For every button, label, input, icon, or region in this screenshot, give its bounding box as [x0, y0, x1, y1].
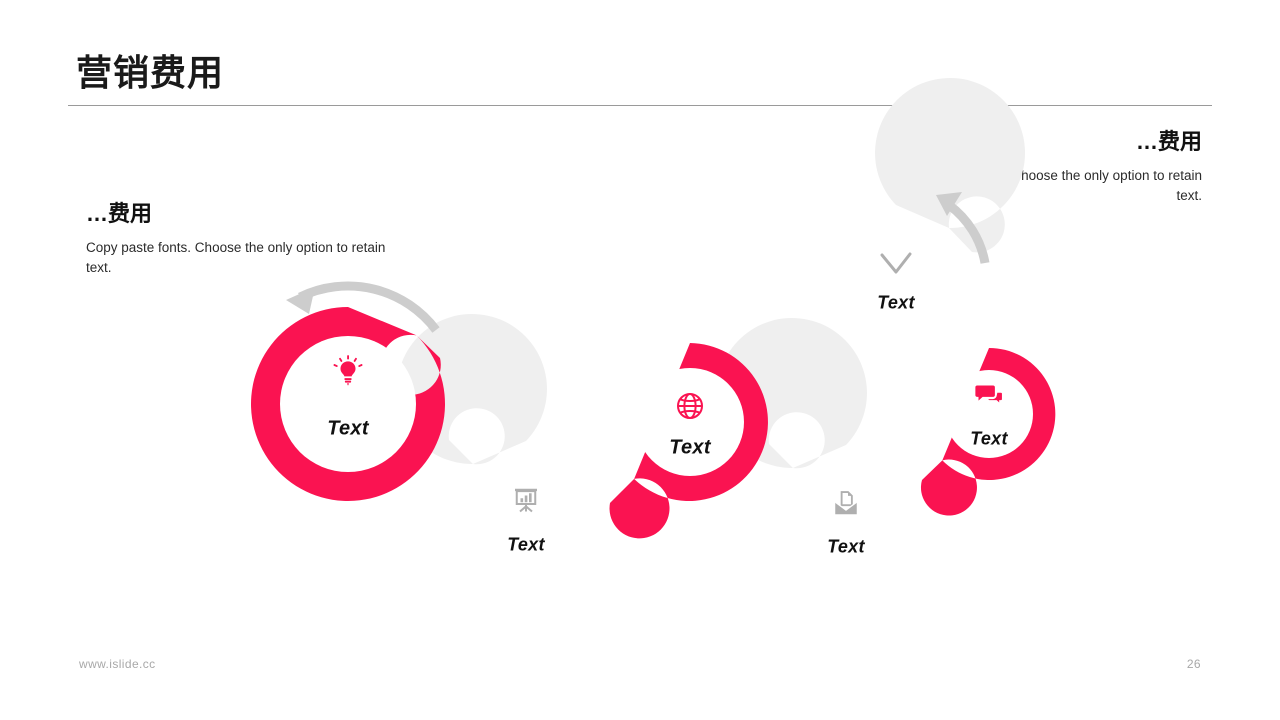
envelope-document-icon — [831, 488, 861, 518]
node-5-label: Text — [970, 429, 1008, 450]
node-1-shape[interactable] — [251, 307, 445, 501]
chat-bubbles-icon — [974, 380, 1004, 410]
footer-page-number: 26 — [1187, 657, 1201, 671]
slide-canvas: 营销费用 …费用 Copy paste fonts. Choose the on… — [0, 0, 1280, 720]
lightbulb-icon — [331, 354, 365, 388]
presentation-chart-icon — [511, 485, 541, 515]
node-3-label: Text — [669, 437, 711, 460]
node-4-label: Text — [827, 537, 865, 558]
node-6-shape[interactable] — [847, 78, 1025, 329]
process-chain-diagram: Text Text Text Text Text Text — [0, 0, 1280, 720]
footer-website[interactable]: www.islide.cc — [79, 657, 156, 671]
node-6-label: Text — [877, 293, 915, 314]
check-icon — [879, 251, 913, 277]
globe-icon — [674, 390, 706, 422]
node-1-label: Text — [327, 418, 369, 441]
node-2-label: Text — [507, 535, 545, 556]
